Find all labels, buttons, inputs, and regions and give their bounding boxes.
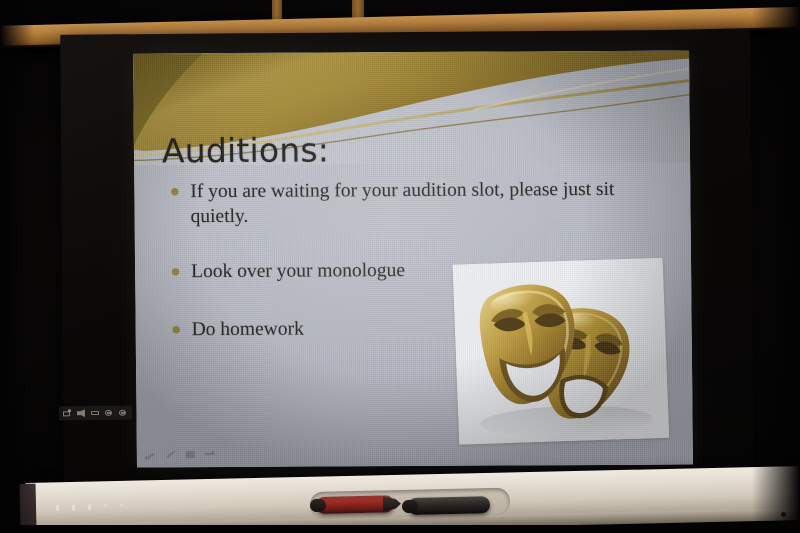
bullet-dot-icon [173,326,180,333]
volume-down-button[interactable] [105,409,114,417]
next-slide-arrow-icon[interactable] [205,450,216,459]
bullet-dot-icon [171,188,178,195]
bullet-dot-icon [172,268,179,275]
projected-slide[interactable]: Auditions: If you are waiting for your a… [133,51,693,468]
volume-up-button[interactable] [119,409,128,417]
bullet-text: Do homework [192,319,304,341]
red-stylus[interactable] [316,495,394,514]
list-item: If you are waiting for your audition slo… [168,177,668,230]
pen-tool-icon[interactable] [145,450,156,459]
right-shadow-overlay [752,0,800,533]
source-button[interactable] [63,409,72,417]
menu-button[interactable] [91,409,100,417]
slide-thumbnail-icon[interactable] [185,450,196,459]
left-shadow-overlay [0,0,34,533]
black-stylus[interactable] [408,496,490,515]
slide-canvas: Auditions: If you are waiting for your a… [133,51,693,468]
presentation-toolbar[interactable] [145,450,216,459]
slide-title: Auditions: [162,130,330,170]
theater-masks-image [453,258,670,445]
floor-shadow [0,525,800,533]
photo-scene: Auditions: If you are waiting for your a… [0,0,800,533]
display-control-panel[interactable] [59,406,132,421]
highlighter-tool-icon[interactable] [165,450,176,459]
bullet-text: Look over your monologue [191,260,405,282]
mute-button[interactable] [77,409,86,417]
bullet-text: If you are waiting for your audition slo… [190,179,614,227]
